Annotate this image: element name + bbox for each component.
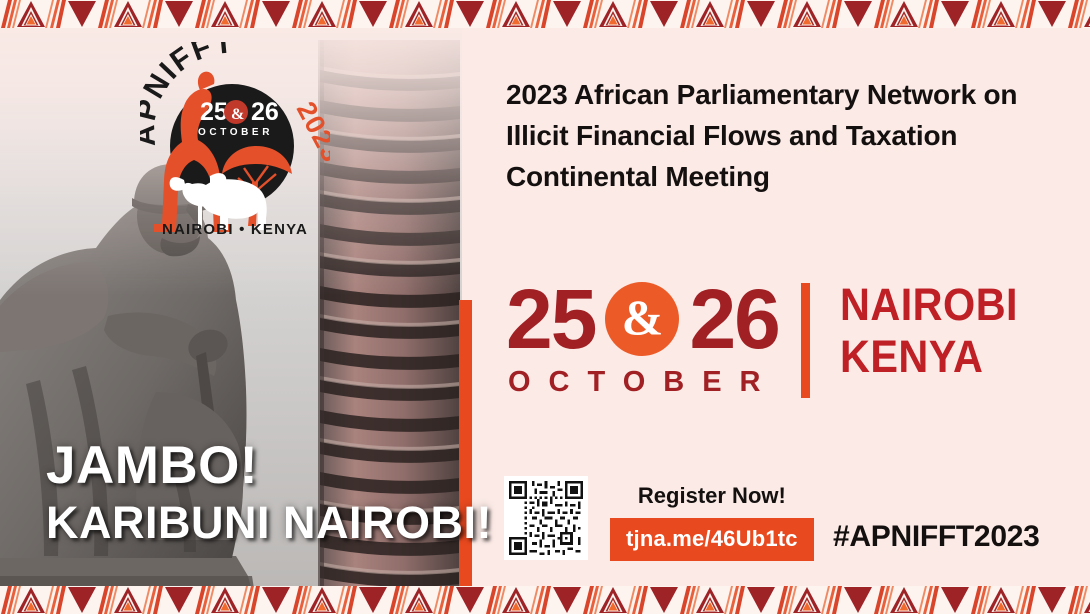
logo-year: 2023: [291, 97, 330, 168]
vertical-divider: [801, 283, 810, 398]
register-text-group: Register Now! tjna.me/46Ub1tc: [610, 476, 814, 561]
date-day-end: 26: [689, 277, 778, 361]
date-day-start: 25: [506, 277, 595, 361]
logo-day-start: 25: [200, 98, 228, 126]
register-label: Register Now!: [610, 484, 814, 508]
photo-caption: JAMBO! KARIBUNI NAIROBI!: [46, 438, 492, 548]
qr-code[interactable]: [504, 476, 588, 560]
location-country: KENYA: [840, 331, 1018, 383]
date-numbers: 25 & 26: [506, 277, 779, 361]
registration-block: Register Now! tjna.me/46Ub1tc: [504, 476, 814, 561]
caption-karibuni: KARIBUNI NAIROBI!: [46, 498, 492, 548]
event-hashtag: #APNIFFT2023: [833, 521, 1039, 553]
event-title: 2023 African Parliamentary Network on Il…: [506, 74, 1062, 197]
logo-ampersand: &: [231, 106, 244, 123]
location-block: NAIROBI KENYA: [840, 279, 1018, 383]
location-city: NAIROBI: [840, 279, 1018, 331]
date-location-row: 25 & 26 OCTOBER NAIROBI KENYA: [506, 277, 1033, 398]
decorative-border-top: [0, 0, 1090, 28]
ampersand-badge: &: [605, 282, 679, 356]
ampersand-glyph: &: [622, 292, 664, 342]
logo-month: OCTOBER: [198, 127, 273, 138]
date-month: OCTOBER: [506, 367, 779, 397]
decorative-border-bottom: [0, 586, 1090, 614]
apnifft-logo: APNIFFT 2023 25 & 26 OCTOBER NAIROBI • K…: [140, 42, 330, 242]
logo-location: NAIROBI • KENYA: [162, 221, 308, 238]
logo-day-end: 26: [251, 98, 279, 126]
event-banner: JAMBO! KARIBUNI NAIROBI!: [0, 0, 1090, 614]
date-block: 25 & 26 OCTOBER: [506, 277, 779, 397]
caption-jambo: JAMBO!: [46, 438, 492, 494]
register-link-button[interactable]: tjna.me/46Ub1tc: [610, 518, 814, 561]
